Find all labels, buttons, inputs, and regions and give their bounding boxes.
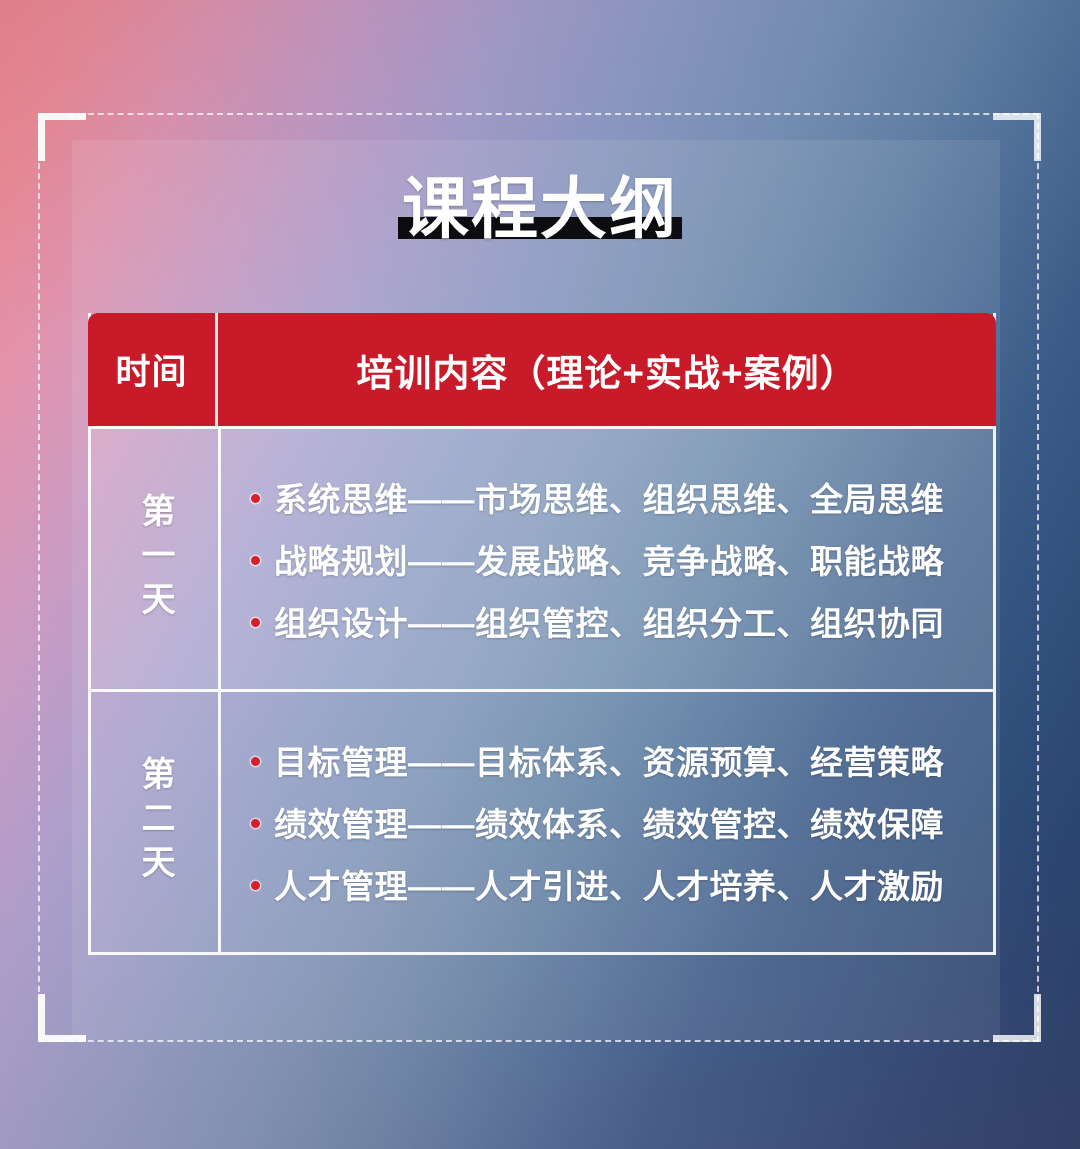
list-item-label: 系统思维——市场思维、组织思维、全局思维 bbox=[274, 473, 944, 521]
list-item: 系统思维——市场思维、组织思维、全局思维 bbox=[251, 473, 967, 521]
table-row: 第二天 目标管理——目标体系、资源预算、经营策略 绩效管理——绩效体系、绩效管控… bbox=[91, 689, 993, 952]
table-header-time-label: 时间 bbox=[115, 344, 187, 395]
list-item-label: 目标管理——目标体系、资源预算、经营策略 bbox=[274, 736, 944, 784]
list-item-label: 战略规划——发展战略、竞争战略、职能战略 bbox=[274, 535, 944, 583]
course-outline-table: 时间 培训内容（理论+实战+案例） 第一天 系统思维——市场思维、组织思维、全局… bbox=[88, 313, 996, 955]
bullet-dot-icon bbox=[251, 881, 260, 890]
day-label-two: 第二天 bbox=[131, 756, 178, 888]
list-item: 绩效管理——绩效体系、绩效管控、绩效保障 bbox=[251, 798, 967, 846]
list-item: 人才管理——人才引进、人才培养、人才激励 bbox=[251, 860, 967, 908]
corner-bracket-top-right-icon bbox=[993, 113, 1041, 161]
corner-bracket-top-left-icon bbox=[38, 113, 86, 161]
page-title-text: 课程大纲 bbox=[402, 176, 678, 243]
page-title: 课程大纲 bbox=[0, 176, 1080, 243]
bullet-dot-icon bbox=[251, 618, 260, 627]
list-item: 目标管理——目标体系、资源预算、经营策略 bbox=[251, 736, 967, 784]
bullet-dot-icon bbox=[251, 556, 260, 565]
table-header-cell-content: 培训内容（理论+实战+案例） bbox=[218, 313, 996, 426]
bullet-dot-icon bbox=[251, 494, 260, 503]
table-header-row: 时间 培训内容（理论+实战+案例） bbox=[88, 313, 996, 426]
list-item: 组织设计——组织管控、组织分工、组织协同 bbox=[251, 597, 967, 645]
list-item-label: 绩效管理——绩效体系、绩效管控、绩效保障 bbox=[274, 798, 944, 846]
table-header-content-label: 培训内容（理论+实战+案例） bbox=[356, 343, 857, 397]
table-header-cell-time: 时间 bbox=[88, 313, 218, 426]
day-label-one: 第一天 bbox=[131, 493, 178, 625]
bullet-dot-icon bbox=[251, 757, 260, 766]
list-item-label: 人才管理——人才引进、人才培养、人才激励 bbox=[274, 860, 944, 908]
table-cell-day: 第一天 bbox=[91, 429, 221, 689]
corner-bracket-bottom-left-icon bbox=[38, 994, 86, 1042]
list-item: 战略规划——发展战略、竞争战略、职能战略 bbox=[251, 535, 967, 583]
table-cell-day: 第二天 bbox=[91, 692, 221, 952]
table-cell-items: 目标管理——目标体系、资源预算、经营策略 绩效管理——绩效体系、绩效管控、绩效保… bbox=[221, 692, 993, 952]
table-cell-items: 系统思维——市场思维、组织思维、全局思维 战略规划——发展战略、竞争战略、职能战… bbox=[221, 429, 993, 689]
corner-bracket-bottom-right-icon bbox=[993, 994, 1041, 1042]
table-row: 第一天 系统思维——市场思维、组织思维、全局思维 战略规划——发展战略、竞争战略… bbox=[91, 426, 993, 689]
course-outline-poster: 课程大纲 时间 培训内容（理论+实战+案例） 第一天 系统思维——市场思维、组织… bbox=[0, 0, 1080, 1149]
bullet-dot-icon bbox=[251, 819, 260, 828]
list-item-label: 组织设计——组织管控、组织分工、组织协同 bbox=[274, 597, 944, 645]
